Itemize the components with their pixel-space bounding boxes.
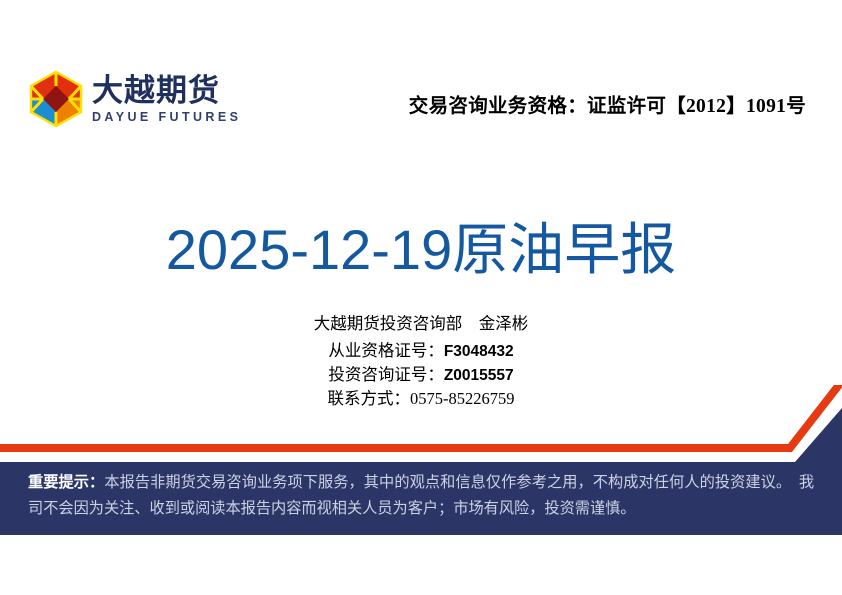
page-header: 大越期货 DAYUE FUTURES 交易咨询业务资格：证监许可【2012】10…	[0, 0, 842, 150]
department-line: 大越期货投资咨询部 金泽彬	[0, 312, 842, 335]
consulting-cert-line: 投资咨询证号：Z0015557	[0, 363, 842, 387]
brand-wordmark: 大越期货 DAYUE FUTURES	[92, 75, 241, 124]
consulting-cert-value: Z0015557	[444, 367, 514, 384]
license-text: 交易咨询业务资格：证监许可【2012】1091号	[409, 89, 806, 118]
practice-cert-label: 从业资格证号：	[328, 341, 444, 360]
brand-name-en: DAYUE FUTURES	[92, 111, 241, 124]
brand-logo: 大越期货 DAYUE FUTURES	[28, 70, 241, 128]
disclaimer-lead: 重要提示：	[28, 474, 104, 491]
consulting-cert-label: 投资咨询证号：	[328, 365, 444, 384]
orange-stripe	[0, 385, 842, 448]
disclaimer-text: 重要提示：本报告非期货交易咨询业务项下服务，其中的观点和信息仅作参考之用，不构成…	[0, 470, 842, 522]
practice-cert-value: F3048432	[444, 343, 514, 360]
dayue-hexagon-logo-icon	[28, 70, 84, 128]
practice-cert-line: 从业资格证号：F3048432	[0, 339, 842, 363]
disclaimer-body: 本报告非期货交易咨询业务项下服务，其中的观点和信息仅作参考之用，不构成对任何人的…	[28, 474, 814, 517]
brand-name-cn: 大越期货	[92, 75, 241, 106]
page-title: 2025-12-19原油早报	[0, 205, 842, 286]
